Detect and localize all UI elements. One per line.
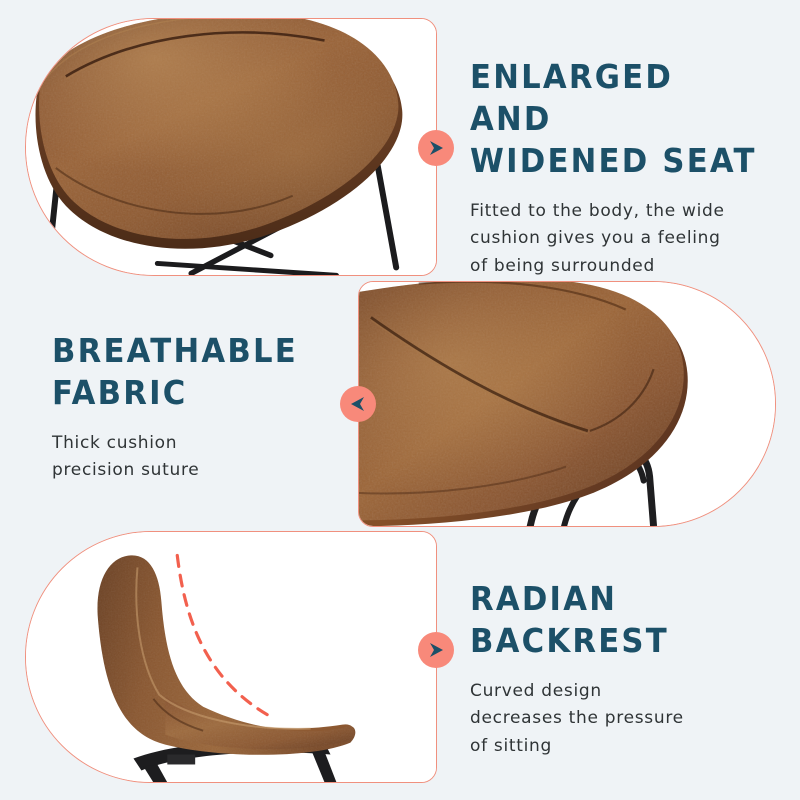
section-2-body: Thick cushion precision suture	[52, 430, 342, 485]
chair-side-profile-image	[26, 532, 436, 782]
arrow-right-icon	[426, 138, 446, 158]
section-3-arrow-badge[interactable]	[418, 632, 454, 668]
section-1-text: ENLARGED AND WIDENED SEAT Fitted to the …	[470, 56, 780, 280]
section-1-body: Fitted to the body, the wide cushion giv…	[470, 198, 780, 281]
section-2-arrow-badge[interactable]	[340, 386, 376, 422]
section-2-image-frame	[358, 281, 776, 527]
section-3-image-frame	[25, 531, 437, 783]
section-1-heading: ENLARGED AND WIDENED SEAT	[470, 56, 758, 182]
section-2-text: BREATHABLE FABRIC Thick cushion precisio…	[52, 330, 342, 485]
section-1-arrow-badge[interactable]	[418, 130, 454, 166]
section-3-heading: RADIAN BACKREST	[470, 578, 758, 662]
chair-fabric-closeup-image	[359, 282, 775, 526]
section-3-text: RADIAN BACKREST Curved design decreases …	[470, 578, 780, 760]
section-2-heading: BREATHABLE FABRIC	[52, 330, 322, 414]
arrow-left-icon	[348, 394, 368, 414]
section-1-image-frame	[25, 18, 437, 276]
section-3-body: Curved design decreases the pressure of …	[470, 678, 780, 761]
infographic-canvas: ENLARGED AND WIDENED SEAT Fitted to the …	[0, 0, 800, 800]
chair-seat-closeup-image	[26, 19, 436, 275]
arrow-right-icon	[426, 640, 446, 660]
